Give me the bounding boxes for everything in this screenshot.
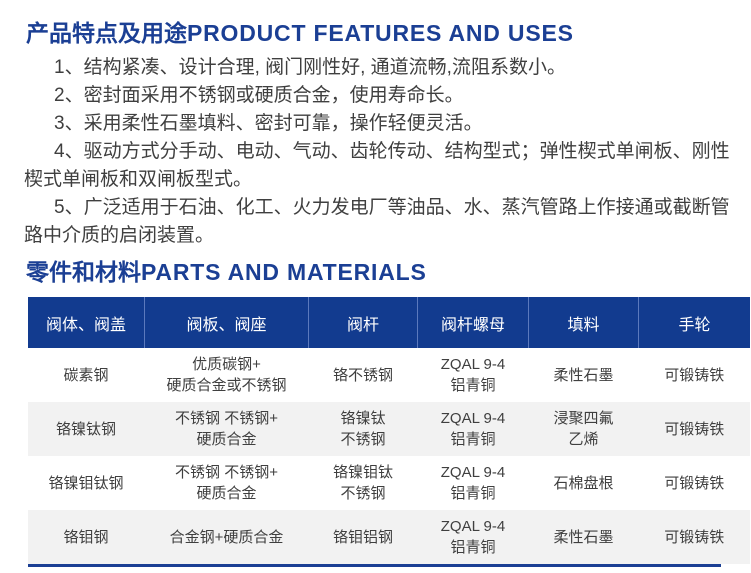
features-list: 1、结构紧凑、设计合理, 阀门刚性好, 通道流畅,流阻系数小。 2、密封面采用不…	[24, 54, 730, 250]
cell-packing: 柔性石墨	[529, 348, 639, 402]
cell-line: ZQAL 9-4	[422, 408, 524, 429]
cell-stem: 铬不锈钢	[309, 348, 418, 402]
column-header-packing: 填料	[529, 297, 639, 348]
feature-item-3: 3、采用柔性石墨填料、密封可靠，操作轻便灵活。	[24, 110, 730, 138]
table-body: 碳素钢 优质碳钢+ 硬质合金或不锈钢 铬不锈钢 ZQAL 9-4 铝青铜 柔性石…	[28, 348, 750, 564]
cell-disc: 合金钢+硬质合金	[145, 510, 309, 564]
parts-materials-table: 阀体、阀盖 阀板、阀座 阀杆 阀杆螺母 填料 手轮 碳素钢 优质碳钢+ 硬质合金…	[28, 297, 751, 564]
cell-line: 硬质合金	[149, 483, 304, 504]
cell-line: 优质碳钢+	[149, 354, 304, 375]
cell-handwheel: 可锻铸铁	[639, 402, 751, 456]
cell-line: 可锻铸铁	[643, 527, 746, 548]
cell-line: 合金钢+硬质合金	[149, 527, 304, 548]
cell-line: 硬质合金或不锈钢	[149, 375, 304, 396]
table-row: 铬镍钼钛钢 不锈钢 不锈钢+ 硬质合金 铬镍钼钛 不锈钢 ZQAL 9-4 铝青…	[28, 456, 750, 510]
cell-line: 可锻铸铁	[643, 473, 746, 494]
cell-disc: 不锈钢 不锈钢+ 硬质合金	[145, 402, 309, 456]
parts-heading-en: PARTS AND MATERIALS	[141, 259, 427, 285]
column-header-handwheel: 手轮	[639, 297, 751, 348]
cell-line: 可锻铸铁	[643, 419, 746, 440]
cell-body: 碳素钢	[28, 348, 145, 402]
cell-handwheel: 可锻铸铁	[639, 456, 751, 510]
cell-line: 铬钼铝钢	[313, 527, 413, 548]
cell-line: 可锻铸铁	[643, 365, 746, 386]
cell-line: 不锈钢 不锈钢+	[149, 462, 304, 483]
table-row: 铬钼钢 合金钢+硬质合金 铬钼铝钢 ZQAL 9-4 铝青铜 柔性石墨	[28, 510, 750, 564]
cell-line: 铝青铜	[422, 375, 524, 396]
cell-line: 铬镍钛	[313, 408, 413, 429]
table-header: 阀体、阀盖 阀板、阀座 阀杆 阀杆螺母 填料 手轮	[28, 297, 750, 348]
cell-line: 硬质合金	[149, 429, 304, 450]
features-heading-en: PRODUCT FEATURES AND USES	[187, 20, 574, 46]
cell-packing: 石棉盘根	[529, 456, 639, 510]
feature-item-1: 1、结构紧凑、设计合理, 阀门刚性好, 通道流畅,流阻系数小。	[24, 54, 730, 82]
table-row: 碳素钢 优质碳钢+ 硬质合金或不锈钢 铬不锈钢 ZQAL 9-4 铝青铜 柔性石…	[28, 348, 750, 402]
feature-item-4: 4、驱动方式分手动、电动、气动、齿轮传动、结构型式；弹性楔式单闸板、刚性楔式单闸…	[24, 138, 730, 194]
cell-line: ZQAL 9-4	[422, 516, 524, 537]
feature-item-5: 5、广泛适用于石油、化工、火力发电厂等油品、水、蒸汽管路上作接通或截断管路中介质…	[24, 194, 730, 250]
cell-stem: 铬镍钛 不锈钢	[309, 402, 418, 456]
cell-body: 铬镍钛钢	[28, 402, 145, 456]
cell-stem-nut: ZQAL 9-4 铝青铜	[418, 402, 529, 456]
table-row: 铬镍钛钢 不锈钢 不锈钢+ 硬质合金 铬镍钛 不锈钢 ZQAL 9-4 铝青铜	[28, 402, 750, 456]
cell-line: 柔性石墨	[533, 365, 634, 386]
cell-stem-nut: ZQAL 9-4 铝青铜	[418, 510, 529, 564]
column-header-stem-nut: 阀杆螺母	[418, 297, 529, 348]
cell-line: ZQAL 9-4	[422, 354, 524, 375]
cell-line: 不锈钢	[313, 429, 413, 450]
parts-table-container: 阀体、阀盖 阀板、阀座 阀杆 阀杆螺母 填料 手轮 碳素钢 优质碳钢+ 硬质合金…	[28, 297, 721, 567]
cell-packing: 柔性石墨	[529, 510, 639, 564]
cell-line: 不锈钢 不锈钢+	[149, 408, 304, 429]
parts-section-heading: 零件和材料PARTS AND MATERIALS	[26, 253, 427, 287]
cell-line: 铬不锈钢	[313, 365, 413, 386]
features-section-heading: 产品特点及用途PRODUCT FEATURES AND USES	[26, 14, 574, 48]
cell-packing: 浸聚四氟 乙烯	[529, 402, 639, 456]
cell-body: 铬钼钢	[28, 510, 145, 564]
cell-disc: 不锈钢 不锈钢+ 硬质合金	[145, 456, 309, 510]
cell-handwheel: 可锻铸铁	[639, 510, 751, 564]
cell-handwheel: 可锻铸铁	[639, 348, 751, 402]
cell-stem-nut: ZQAL 9-4 铝青铜	[418, 348, 529, 402]
column-header-body: 阀体、阀盖	[28, 297, 145, 348]
features-heading-cn: 产品特点及用途	[26, 20, 187, 46]
cell-line: 铝青铜	[422, 537, 524, 558]
product-spec-page: 产品特点及用途PRODUCT FEATURES AND USES 1、结构紧凑、…	[0, 0, 751, 573]
cell-stem: 铬镍钼钛 不锈钢	[309, 456, 418, 510]
column-header-disc: 阀板、阀座	[145, 297, 309, 348]
cell-line: 铝青铜	[422, 483, 524, 504]
table-header-row: 阀体、阀盖 阀板、阀座 阀杆 阀杆螺母 填料 手轮	[28, 297, 750, 348]
cell-stem-nut: ZQAL 9-4 铝青铜	[418, 456, 529, 510]
cell-line: 浸聚四氟	[533, 408, 634, 429]
cell-disc: 优质碳钢+ 硬质合金或不锈钢	[145, 348, 309, 402]
cell-line: 柔性石墨	[533, 527, 634, 548]
cell-stem: 铬钼铝钢	[309, 510, 418, 564]
cell-line: ZQAL 9-4	[422, 462, 524, 483]
feature-item-2: 2、密封面采用不锈钢或硬质合金，使用寿命长。	[24, 82, 730, 110]
parts-heading-cn: 零件和材料	[26, 259, 141, 285]
cell-line: 不锈钢	[313, 483, 413, 504]
cell-body: 铬镍钼钛钢	[28, 456, 145, 510]
cell-line: 乙烯	[533, 429, 634, 450]
cell-line: 铬镍钼钛	[313, 462, 413, 483]
cell-line: 石棉盘根	[533, 473, 634, 494]
cell-line: 铝青铜	[422, 429, 524, 450]
column-header-stem: 阀杆	[309, 297, 418, 348]
